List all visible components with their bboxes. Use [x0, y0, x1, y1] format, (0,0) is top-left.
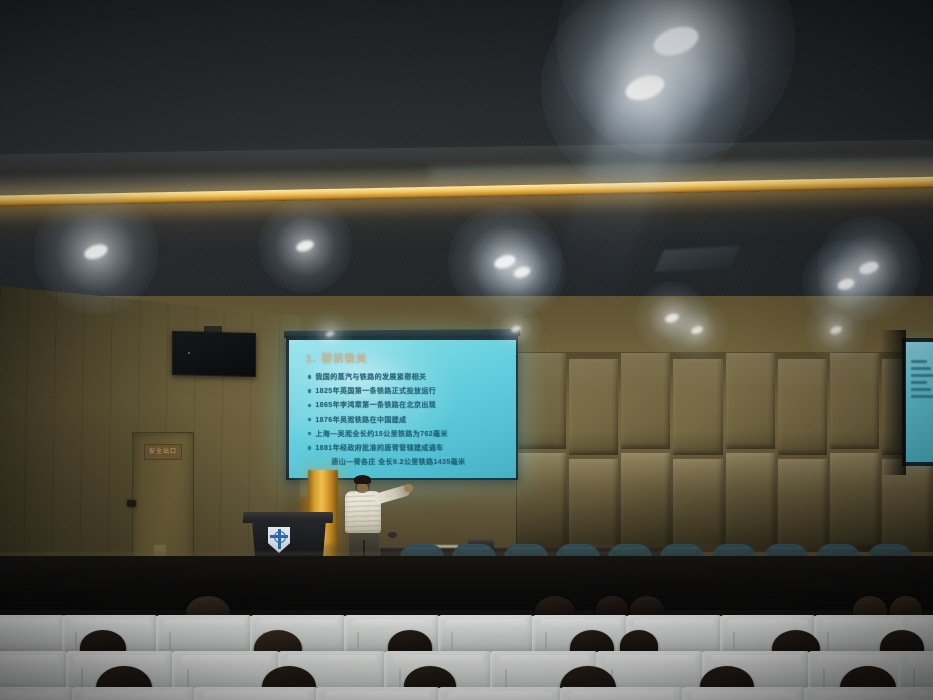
secondary-slide-line: [911, 374, 933, 377]
slide-bullet: 1881年经政府批准的唐胥管辖建成通车: [308, 443, 507, 453]
ceiling-air-diffuser: [654, 246, 739, 272]
slide-bullet: 唐山—胥各庄 全长9.2公里铁路1435毫米: [324, 457, 507, 467]
slide-bullet-text: 1865年李鸿章第一条铁路在北京出现: [315, 400, 436, 410]
lecture-hall-photo: 安全出口 1. 初识铁关 我国的蒸汽与铁路的发展紧密相关1825年英国第一条铁路…: [0, 0, 933, 700]
secondary-slide-lines: [905, 360, 933, 398]
slide-bullet-list: 我国的蒸汽与铁路的发展紧密相关1825年英国第一条铁路正式投放运行1865年李鸿…: [298, 372, 507, 467]
presenter-hair: [354, 475, 371, 484]
secondary-slide-line: [911, 367, 931, 370]
audience-row-front: [0, 666, 933, 700]
slide-bullet-text: 上海—吴淞全长约15公里铁路为762毫米: [315, 429, 447, 439]
chair-cover[interactable]: [0, 687, 74, 700]
secondary-slide-line: [911, 388, 931, 391]
slide-bullet-text: 唐山—胥各庄 全长9.2公里铁路1435毫米: [331, 457, 465, 467]
chair-cover[interactable]: [194, 687, 318, 700]
slide-bullet-text: 1876年吴淞铁路在中国建成: [315, 415, 406, 425]
main-projection-screen: 1. 初识铁关 我国的蒸汽与铁路的发展紧密相关1825年英国第一条铁路正式投放运…: [289, 340, 516, 478]
bullet-dot-icon: [308, 375, 311, 378]
secondary-slide-line: [911, 381, 927, 384]
slide-title: 1. 初识铁关: [306, 350, 507, 365]
slide-bullet: 我国的蒸汽与铁路的发展紧密相关: [308, 372, 507, 382]
secondary-projection-screen: 1.: [905, 342, 933, 462]
right-edge-shadow: [880, 330, 906, 475]
slide-bullet: 1865年李鸿章第一条铁路在北京出现: [308, 400, 507, 410]
acoustic-panel: [778, 359, 827, 455]
slide-bullet: 1825年英国第一条铁路正式投放运行: [308, 386, 507, 396]
bullet-dot-icon: [308, 389, 311, 392]
slide-bullet-text: 我国的蒸汽与铁路的发展紧密相关: [315, 372, 426, 382]
chair-cover[interactable]: [682, 687, 806, 700]
exit-sign: 安全出口: [144, 444, 182, 460]
acoustic-panel: [621, 353, 670, 449]
slide-content: 1. 初识铁关 我国的蒸汽与铁路的发展紧密相关1825年英国第一条铁路正式投放运…: [289, 340, 516, 478]
acoustic-panel-grid: [516, 352, 933, 552]
chair-cover[interactable]: [560, 687, 684, 700]
door-handle[interactable]: [127, 500, 136, 507]
bullet-dot-icon: [308, 446, 311, 449]
bullet-dot-icon: [308, 432, 311, 435]
acoustic-panel: [673, 359, 722, 455]
secondary-slide-line: [911, 360, 927, 363]
chair-cover[interactable]: [438, 687, 562, 700]
bullet-dot-icon: [308, 404, 311, 407]
wall-monitor-screen: [172, 331, 256, 377]
slide-bullet-text: 1825年英国第一条铁路正式投放运行: [315, 386, 436, 396]
secondary-slide-title: 1.: [910, 349, 933, 355]
presenter-hand: [404, 484, 413, 492]
slide-bullet-text: 1881年经政府批准的唐胥管辖建成通车: [315, 443, 443, 453]
bullet-dot-icon: [308, 418, 311, 421]
acoustic-panel: [569, 359, 618, 455]
presenter-face: [357, 483, 368, 493]
audience-seating: [0, 596, 933, 700]
monitor-power-led: [188, 352, 190, 354]
chair-cover[interactable]: [905, 687, 933, 700]
chair-cover[interactable]: [316, 687, 440, 700]
acoustic-panel: [726, 353, 775, 449]
acoustic-panel: [830, 353, 879, 449]
acoustic-panel: [517, 353, 566, 449]
chair-cover[interactable]: [72, 687, 196, 700]
ceiling-shadow: [0, 0, 933, 150]
secondary-slide-line: [911, 395, 933, 398]
slide-bullet: 上海—吴淞全长约15公里铁路为762毫米: [308, 429, 507, 439]
slide-bullet: 1876年吴淞铁路在中国建成: [308, 415, 507, 425]
